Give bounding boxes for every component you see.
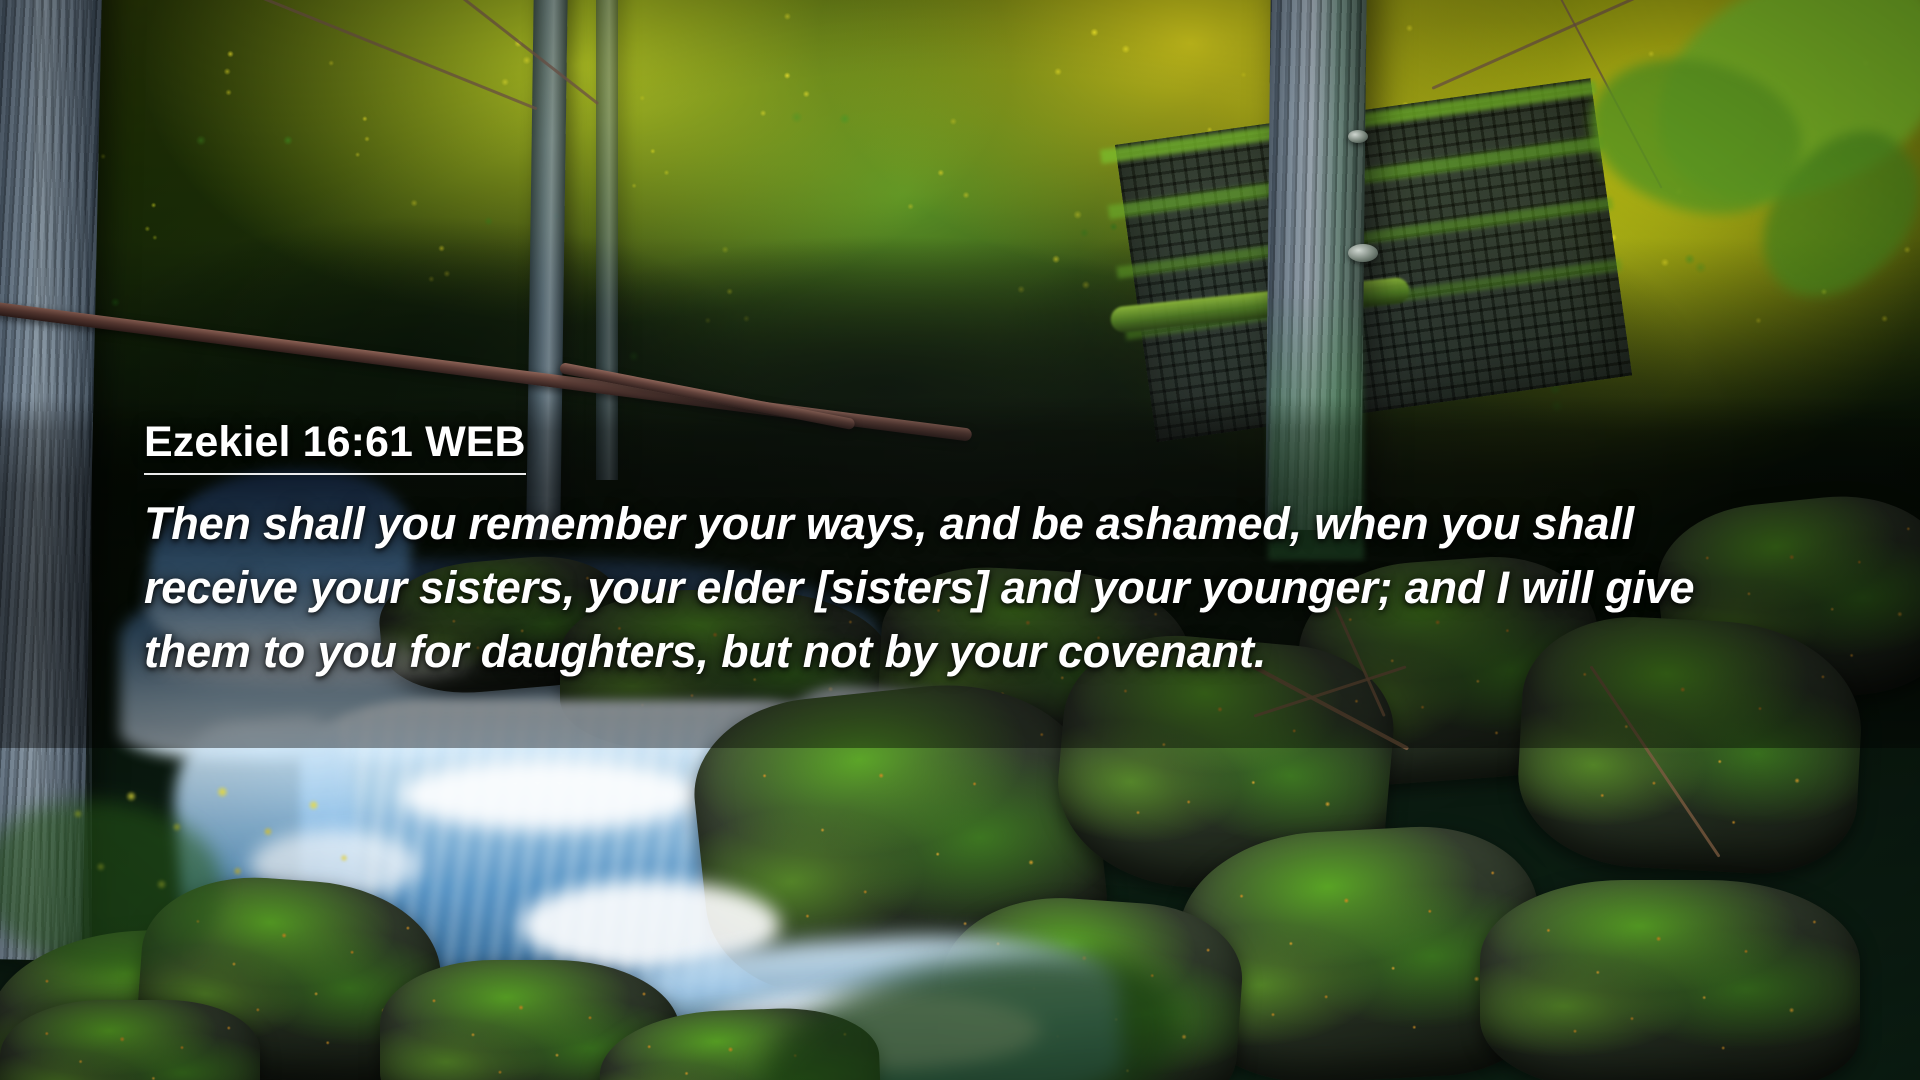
verse-text: Then shall you remember your ways, and b… xyxy=(144,492,1724,685)
verse-reference: Ezekiel 16:61 WEB xyxy=(144,420,526,475)
verse-wallpaper: Ezekiel 16:61 WEB Then shall you remembe… xyxy=(0,0,1920,1080)
verse-block: Ezekiel 16:61 WEB Then shall you remembe… xyxy=(144,420,1744,685)
